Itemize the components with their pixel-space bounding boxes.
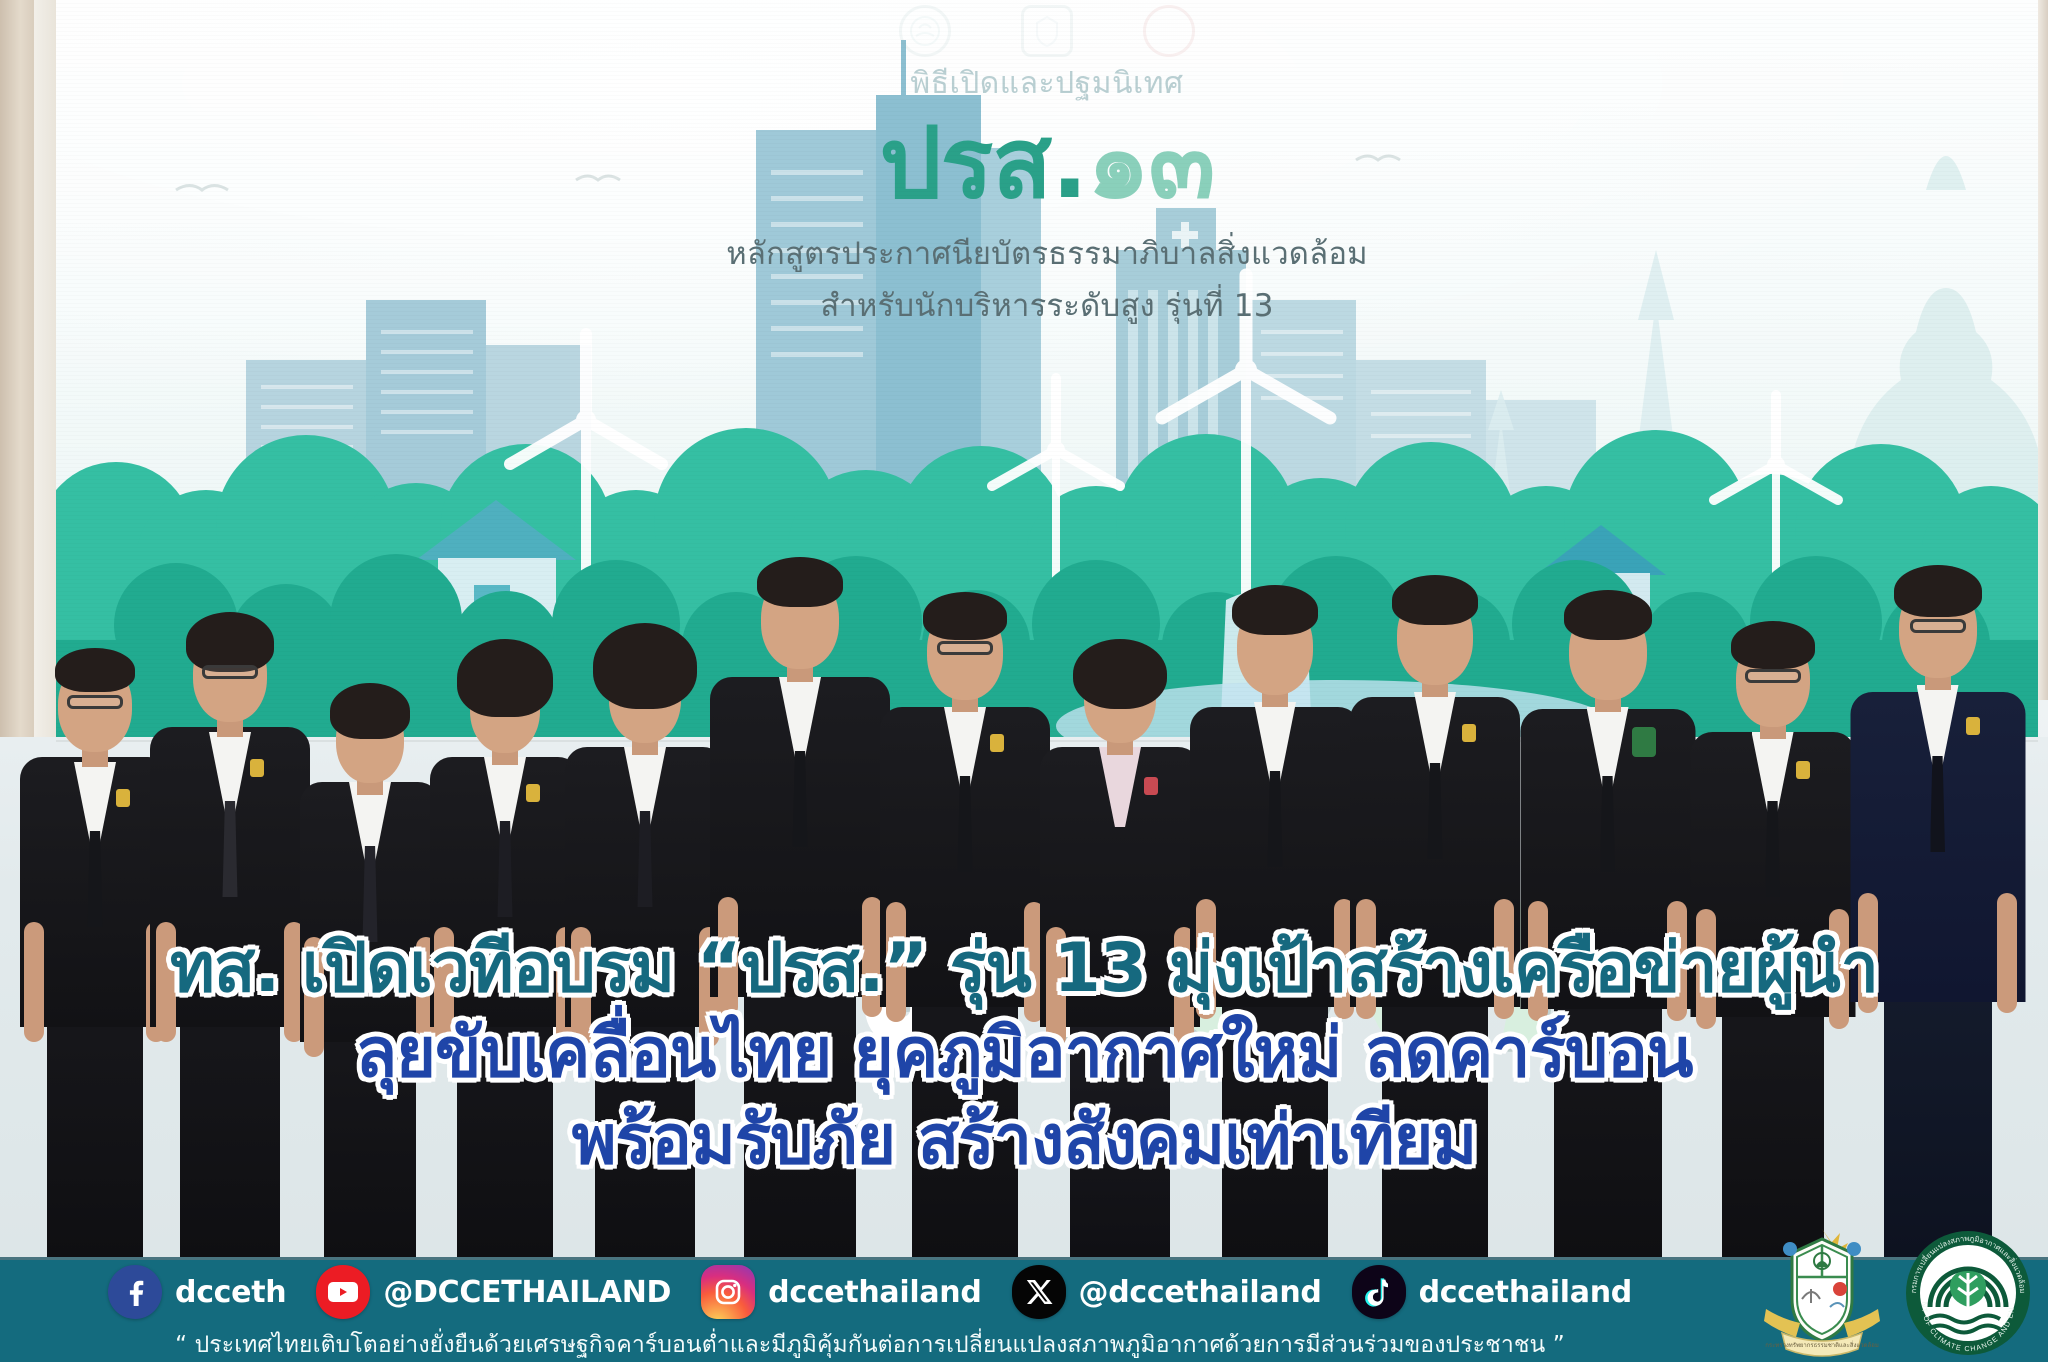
person-hair [923, 592, 1007, 640]
tiktok-icon[interactable] [1352, 1265, 1406, 1319]
instagram-icon[interactable] [701, 1265, 755, 1319]
headline-line-3: พร้อมรับภัย สร้างสังคมเท่าเทียม [0, 1100, 2048, 1183]
screenshot-root: พิธีเปิดและปฐมนิเทศ ปรส.๑๓ หลักสูตรประกา… [0, 0, 2048, 1362]
person-lapel-pin [1144, 777, 1158, 795]
person-hair [1073, 639, 1167, 709]
social-item-instagram[interactable]: dccethailand [701, 1265, 981, 1319]
social-item-tiktok[interactable]: dccethailand [1352, 1265, 1632, 1319]
x-twitter-icon[interactable] [1012, 1265, 1066, 1319]
person-tie [1268, 771, 1283, 867]
person-glasses [1910, 619, 1966, 633]
person-lapel-pin [1462, 724, 1476, 742]
person-lapel-pin [990, 734, 1004, 752]
person-tie [223, 801, 238, 897]
footer-tagline: “ ประเทศไทยเติบโตอย่างยั่งยืนด้วยเศรษฐกิ… [0, 1324, 1740, 1362]
person-hair [55, 648, 135, 692]
social-item-youtube[interactable]: @DCCETHAILAND [316, 1265, 671, 1319]
person-glasses [1745, 669, 1801, 683]
person-hair [593, 623, 697, 709]
dcce-seal-icon: กรมการเปลี่ยนแปลงสภาพภูมิอากาศและสิ่งแวด… [1902, 1223, 2034, 1362]
backdrop-header: พิธีเปิดและปฐมนิเทศ ปรส.๑๓ หลักสูตรประกา… [56, 0, 2038, 330]
social-item-facebook[interactable]: dcceth [108, 1265, 286, 1319]
person-hair [1392, 575, 1478, 625]
youtube-icon[interactable] [316, 1265, 370, 1319]
person-lapel-pin [116, 789, 130, 807]
headline-block: ทส. เปิดเวทีอบรม “ปรส.” รุ่น 13 มุ่งเป้า… [0, 930, 2048, 1183]
backdrop-pre-title: พิธีเปิดและปฐมนิเทศ [56, 60, 2038, 107]
mnre-emblem-icon: กระทรวงทรัพยากรธรรมชาติและสิ่งแวดล้อม [1756, 1223, 1888, 1362]
person-hair [1564, 590, 1652, 640]
backdrop-title-number: ๑๓ [1087, 107, 1214, 221]
person-tie [958, 776, 973, 872]
social-handle-facebook[interactable]: dcceth [175, 1275, 286, 1310]
event-photograph: พิธีเปิดและปฐมนิเทศ ปรส.๑๓ หลักสูตรประกา… [0, 0, 2048, 1257]
backdrop-title-main: ปรส. [879, 107, 1087, 221]
red-mark-watermark-icon [1143, 5, 1195, 57]
person-tie [1765, 801, 1780, 897]
person-glasses [937, 641, 993, 655]
person-glasses [67, 695, 123, 709]
person-tie [498, 821, 513, 917]
social-handle-instagram[interactable]: dccethailand [768, 1275, 981, 1310]
bird-icon [176, 156, 1400, 190]
svg-text:กระทรวงทรัพยากรธรรมชาติและสิ่ง: กระทรวงทรัพยากรธรรมชาติและสิ่งแวดล้อม [1765, 1341, 1879, 1349]
mnre-emblem-watermark-icon [899, 5, 951, 57]
person-hair [1894, 565, 1982, 617]
headline-line-2: ลุยขับเคลื่อนไทย ยุคภูมิอากาศใหม่ ลดคาร์… [0, 1013, 2048, 1096]
person-tie [638, 811, 653, 907]
person-tie [1428, 763, 1443, 859]
person-lapel-pin [1796, 761, 1810, 779]
person-hair [757, 557, 843, 607]
social-media-row: dcceth @DCCETHAILAND dccethailand [0, 1260, 1740, 1324]
footer-bar: dcceth @DCCETHAILAND dccethailand [0, 1257, 2048, 1362]
person-hair [186, 612, 274, 672]
person-tie [1600, 776, 1615, 872]
footer-logos: กระทรวงทรัพยากรธรรมชาติและสิ่งแวดล้อม [1734, 1220, 2034, 1362]
headline-line-1: ทส. เปิดเวทีอบรม “ปรส.” รุ่น 13 มุ่งเป้า… [0, 930, 2048, 1009]
social-handle-youtube[interactable]: @DCCETHAILAND [383, 1275, 671, 1310]
person-glasses [202, 665, 258, 679]
person-tie [1930, 756, 1945, 852]
person-hair [1232, 585, 1318, 635]
person-lapel-pin [250, 759, 264, 777]
person-hair [330, 683, 410, 739]
social-handle-tiktok[interactable]: dccethailand [1419, 1275, 1632, 1310]
person-tie [88, 831, 103, 927]
social-handle-x-twitter[interactable]: @dccethailand [1079, 1275, 1322, 1310]
social-item-x-twitter[interactable]: @dccethailand [1012, 1265, 1322, 1319]
person-tie [363, 846, 378, 942]
backdrop-subtitle-line2: สำหรับนักบริหารระดับสูง รุ่นที่ 13 [56, 280, 2038, 330]
backdrop-title: ปรส.๑๓ [56, 113, 2038, 216]
person-hair [457, 639, 553, 717]
person-lapel-pin [526, 784, 540, 802]
person-hair [1731, 621, 1815, 669]
backdrop-logo-row [56, 0, 2038, 58]
garuda-watermark-icon [1021, 5, 1073, 57]
backdrop-subtitle-line1: หลักสูตรประกาศนียบัตรธรรมาภิบาลสิ่งแวดล้… [56, 228, 2038, 278]
person-lapel-pin [1632, 727, 1656, 757]
facebook-icon[interactable] [108, 1265, 162, 1319]
person-tie [793, 751, 808, 847]
person-lapel-pin [1966, 717, 1980, 735]
